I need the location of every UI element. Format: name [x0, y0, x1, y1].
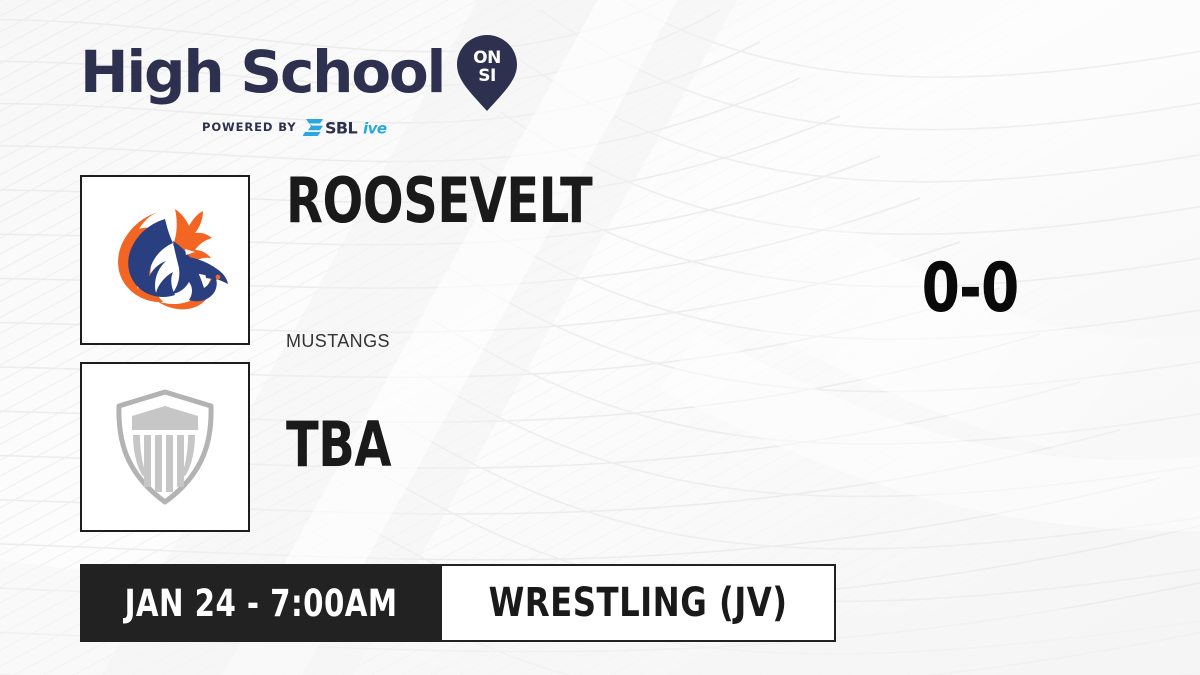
- score-display: 0-0: [844, 255, 1096, 323]
- powered-by-row: POWERED BY SBL ive: [80, 117, 518, 137]
- home-team-logo-box[interactable]: [80, 175, 250, 345]
- home-team-mascot: MUSTANGS: [286, 331, 642, 352]
- on-si-pin-icon: ON SI: [456, 34, 518, 112]
- game-info-banner: JAN 24 - 7:00AM WRESTLING (JV): [80, 564, 836, 642]
- placeholder-shield-logo: [113, 389, 217, 505]
- away-team-logo-box[interactable]: [80, 362, 250, 532]
- home-team-name: ROOSEVELT: [286, 171, 592, 231]
- svg-text:ON: ON: [473, 48, 501, 68]
- game-datetime-chip: JAN 24 - 7:00AM: [80, 564, 442, 642]
- scoreboard-card: High School ON SI POWERED BY: [0, 0, 1200, 675]
- home-team-info: ROOSEVELT MUSTANGS: [286, 171, 642, 352]
- game-sport-text: WRESTLING (JV): [489, 580, 788, 626]
- svg-text:SI: SI: [478, 66, 496, 86]
- brand-wordmark: High School ON SI: [80, 32, 518, 112]
- game-sport-chip: WRESTLING (JV): [442, 564, 836, 642]
- away-team-name: TBA: [286, 415, 391, 475]
- brand-title: High School: [80, 43, 444, 101]
- brand-header: High School ON SI POWERED BY: [80, 32, 518, 137]
- sblive-logo: SBL ive: [303, 117, 407, 137]
- mustang-head-logo: [101, 205, 229, 315]
- svg-text:SBL: SBL: [325, 119, 358, 138]
- away-team-info: TBA: [286, 415, 408, 475]
- powered-by-label: POWERED BY: [202, 120, 296, 134]
- game-datetime-text: JAN 24 - 7:00AM: [125, 582, 398, 625]
- svg-text:ive: ive: [363, 120, 387, 138]
